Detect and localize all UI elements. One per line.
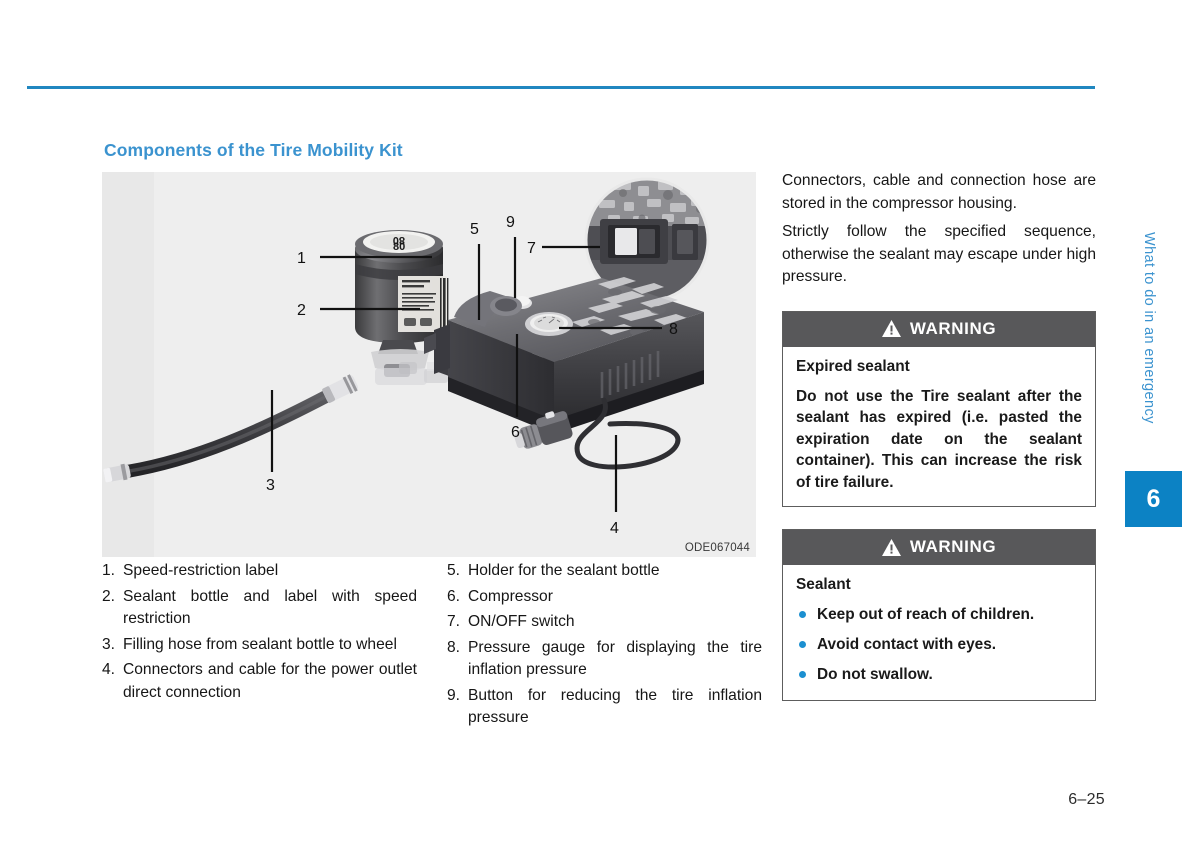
part-label: Sealant bottle and label with speed rest…: [123, 586, 417, 631]
callout-5: 5: [470, 221, 479, 238]
part-label: Holder for the sealant bottle: [468, 560, 762, 583]
part-number: 7.: [447, 611, 468, 634]
list-item: 5. Holder for the sealant bottle: [447, 560, 762, 583]
part-label: Button for reducing the tire inflation p…: [468, 685, 762, 730]
warning-bullet: Keep out of reach of children.: [796, 604, 1082, 625]
parts-list-column-right: 5. Holder for the sealant bottle 6. Comp…: [447, 560, 762, 733]
warning-body: Sealant Keep out of reach of children. A…: [783, 565, 1095, 700]
header-rule: [27, 86, 1095, 89]
callout-8: 8: [669, 321, 678, 338]
body-paragraph-1: Connectors, cable and connection hose ar…: [782, 170, 1096, 215]
part-number: 5.: [447, 560, 468, 583]
figure-code: ODE067044: [685, 542, 750, 554]
warning-title: WARNING: [910, 319, 996, 339]
warning-title: WARNING: [910, 537, 996, 557]
chapter-edge-label: What to do in an emergency: [1141, 232, 1157, 424]
callout-3: 3: [266, 477, 275, 494]
chapter-tab: 6: [1125, 471, 1182, 527]
body-paragraph-2: Strictly follow the specified sequence, …: [782, 221, 1096, 289]
warning-triangle-icon: [882, 539, 901, 556]
svg-text:80: 80: [393, 241, 405, 253]
callout-4: 4: [610, 520, 619, 537]
list-item: 6. Compressor: [447, 586, 762, 609]
warning-bullet: Do not swallow.: [796, 664, 1082, 685]
warning-header: WARNING: [783, 312, 1095, 347]
parts-list: 1. Speed-restriction label 2. Sealant bo…: [102, 560, 762, 733]
part-number: 3.: [102, 634, 123, 657]
part-label: Filling hose from sealant bottle to whee…: [123, 634, 417, 657]
parts-list-column-left: 1. Speed-restriction label 2. Sealant bo…: [102, 560, 417, 733]
callout-7: 7: [527, 240, 536, 257]
left-column: 80 80: [102, 172, 756, 557]
warning-box-expired-sealant: WARNING Expired sealant Do not use the T…: [782, 311, 1096, 508]
compressor: [424, 277, 704, 434]
callout-1: 1: [297, 250, 306, 267]
warning-subtitle: Expired sealant: [796, 358, 1082, 376]
list-item: 4. Connectors and cable for the power ou…: [102, 659, 417, 704]
callout-9: 9: [506, 214, 515, 231]
part-number: 6.: [447, 586, 468, 609]
part-label: Speed-restriction label: [123, 560, 417, 583]
list-item: 1. Speed-restriction label: [102, 560, 417, 583]
callout-2: 2: [297, 302, 306, 319]
list-item: 9. Button for reducing the tire inflatio…: [447, 685, 762, 730]
warning-subtitle: Sealant: [796, 576, 1082, 594]
warning-body: Expired sealant Do not use the Tire seal…: [783, 347, 1095, 507]
warning-text: Do not use the Tire sealant after the se…: [796, 386, 1082, 494]
part-label: Pressure gauge for displaying the tire i…: [468, 637, 762, 682]
warning-triangle-icon: [882, 320, 901, 337]
part-label: Connectors and cable for the power outle…: [123, 659, 417, 704]
warning-header: WARNING: [783, 530, 1095, 565]
callout-6: 6: [511, 424, 520, 441]
part-number: 4.: [102, 659, 123, 704]
list-item: 3. Filling hose from sealant bottle to w…: [102, 634, 417, 657]
part-label: ON/OFF switch: [468, 611, 762, 634]
filling-hose: [103, 373, 360, 557]
part-number: 2.: [102, 586, 123, 631]
tire-mobility-kit-illustration: 80 80: [102, 172, 756, 557]
page-number: 6–25: [1068, 791, 1105, 809]
part-number: 8.: [447, 637, 468, 682]
warning-box-sealant: WARNING Sealant Keep out of reach of chi…: [782, 529, 1096, 701]
warning-bullet: Avoid contact with eyes.: [796, 634, 1082, 655]
list-item: 7. ON/OFF switch: [447, 611, 762, 634]
page-title: Components of the Tire Mobility Kit: [104, 140, 403, 161]
part-number: 1.: [102, 560, 123, 583]
warning-bullet-list: Keep out of reach of children. Avoid con…: [796, 604, 1082, 685]
list-item: 2. Sealant bottle and label with speed r…: [102, 586, 417, 631]
tire-mobility-kit-figure: 80 80: [102, 172, 756, 557]
part-number: 9.: [447, 685, 468, 730]
list-item: 8. Pressure gauge for displaying the tir…: [447, 637, 762, 682]
part-label: Compressor: [468, 586, 762, 609]
right-column: Connectors, cable and connection hose ar…: [782, 170, 1096, 701]
